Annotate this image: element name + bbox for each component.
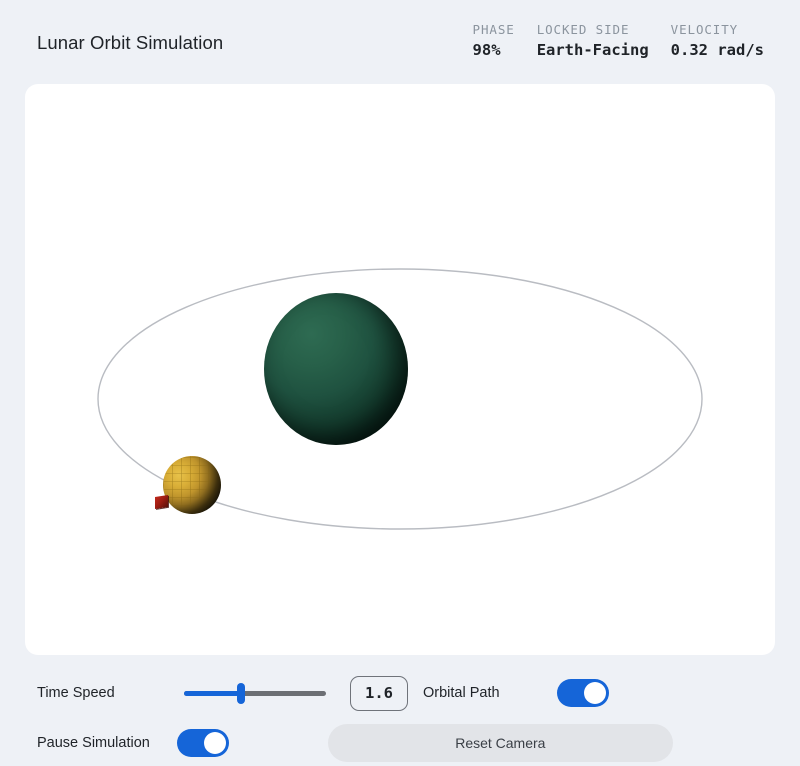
moon [163, 456, 221, 514]
lunar-orbit-simulation-app: Lunar Orbit Simulation PHASE 98% LOCKED … [0, 0, 800, 766]
stat-locked-side: LOCKED SIDE Earth-Facing [537, 22, 649, 62]
time-speed-value[interactable]: 1.6 [350, 676, 408, 711]
stat-locked-side-value: Earth-Facing [537, 39, 649, 62]
header-bar: Lunar Orbit Simulation PHASE 98% LOCKED … [0, 0, 800, 82]
toggle-knob [204, 732, 226, 754]
stat-velocity-label: VELOCITY [671, 22, 738, 39]
stat-velocity-value: 0.32 rad/s [671, 39, 764, 62]
time-speed-slider[interactable] [184, 682, 326, 704]
pause-simulation-label: Pause Simulation [37, 735, 150, 751]
stat-velocity: VELOCITY 0.32 rad/s [671, 22, 764, 62]
moon-surface-grid [163, 456, 221, 514]
controls-panel: Time Speed 1.6 Orbital Path Pause Simula… [0, 660, 800, 766]
pause-simulation-toggle[interactable] [177, 729, 229, 757]
near-side-marker [155, 495, 168, 509]
orbit-scene [25, 84, 775, 655]
stat-phase-value: 98% [473, 39, 501, 62]
slider-fill [184, 691, 241, 696]
reset-camera-button[interactable]: Reset Camera [328, 724, 673, 762]
simulation-viewport[interactable] [25, 84, 775, 655]
pause-row: Pause Simulation Reset Camera [0, 726, 800, 760]
stat-phase: PHASE 98% [473, 22, 515, 62]
time-speed-label: Time Speed [37, 685, 147, 701]
orbital-path-toggle[interactable] [557, 679, 609, 707]
slider-handle[interactable] [237, 683, 245, 704]
stats-group: PHASE 98% LOCKED SIDE Earth-Facing VELOC… [473, 22, 764, 62]
stat-phase-label: PHASE [473, 22, 515, 39]
orbital-path-label: Orbital Path [423, 685, 500, 701]
earth-planet [264, 293, 408, 445]
stat-locked-side-label: LOCKED SIDE [537, 22, 630, 39]
toggle-knob [584, 682, 606, 704]
time-speed-row: Time Speed 1.6 Orbital Path [0, 676, 800, 710]
page-title: Lunar Orbit Simulation [37, 32, 223, 54]
